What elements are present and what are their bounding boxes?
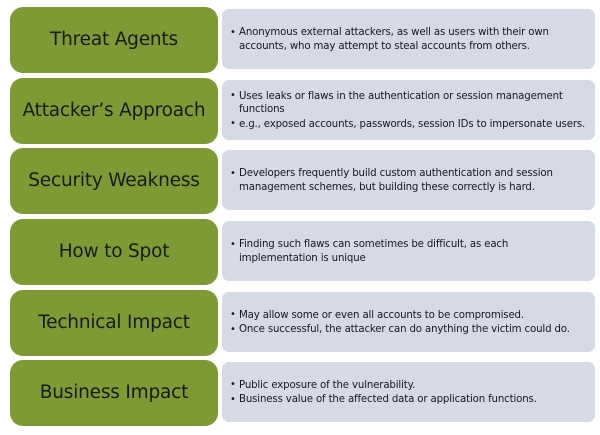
risk-row-threat-agents: Threat Agents Anonymous external attacke… [0,7,600,73]
row-label-box-business-impact: Business Impact [10,360,218,426]
risk-summary-diagram: Threat Agents Anonymous external attacke… [0,0,600,435]
row-label-box-technical-impact: Technical Impact [10,290,218,356]
row-label-business-impact: Business Impact [40,383,188,403]
row-label-box-threat-agents: Threat Agents [10,7,218,73]
row-label-how-to-spot: How to Spot [59,242,170,262]
list-item: Finding such flaws can sometimes be diff… [230,238,587,265]
row-description-technical-impact: May allow some or even all accounts to b… [222,292,595,352]
row-label-security-weakness: Security Weakness [28,171,199,191]
list-item: Public exposure of the vulnerability. [230,379,587,392]
bullet-list: Uses leaks or flaws in the authenticatio… [230,90,587,131]
bullet-list: Public exposure of the vulnerability. Bu… [230,379,587,407]
row-description-attackers-approach: Uses leaks or flaws in the authenticatio… [222,80,595,140]
bullet-list: May allow some or even all accounts to b… [230,309,587,337]
list-item: e.g., exposed accounts, passwords, sessi… [230,118,587,131]
row-description-business-impact: Public exposure of the vulnerability. Bu… [222,362,595,422]
risk-row-attackers-approach: Attacker’s Approach Uses leaks or flaws … [0,78,600,144]
risk-row-how-to-spot: How to Spot Finding such flaws can somet… [0,219,600,285]
row-label-box-security-weakness: Security Weakness [10,148,218,214]
list-item: Business value of the affected data or a… [230,393,587,406]
bullet-list: Developers frequently build custom authe… [230,167,587,194]
bullet-list: Anonymous external attackers, as well as… [230,26,587,53]
row-label-box-how-to-spot: How to Spot [10,219,218,285]
risk-row-security-weakness: Security Weakness Developers frequently … [0,148,600,214]
list-item: May allow some or even all accounts to b… [230,309,587,322]
list-item: Once successful, the attacker can do any… [230,323,587,336]
risk-row-business-impact: Business Impact Public exposure of the v… [0,360,600,426]
list-item: Uses leaks or flaws in the authenticatio… [230,90,587,117]
row-label-threat-agents: Threat Agents [50,30,178,50]
list-item: Anonymous external attackers, as well as… [230,26,587,53]
row-description-security-weakness: Developers frequently build custom authe… [222,150,595,210]
row-label-technical-impact: Technical Impact [38,313,190,333]
row-description-how-to-spot: Finding such flaws can sometimes be diff… [222,221,595,281]
row-label-box-attackers-approach: Attacker’s Approach [10,78,218,144]
bullet-list: Finding such flaws can sometimes be diff… [230,238,587,265]
list-item: Developers frequently build custom authe… [230,167,587,194]
risk-row-technical-impact: Technical Impact May allow some or even … [0,290,600,356]
row-description-threat-agents: Anonymous external attackers, as well as… [222,9,595,69]
row-label-attackers-approach: Attacker’s Approach [23,101,206,121]
